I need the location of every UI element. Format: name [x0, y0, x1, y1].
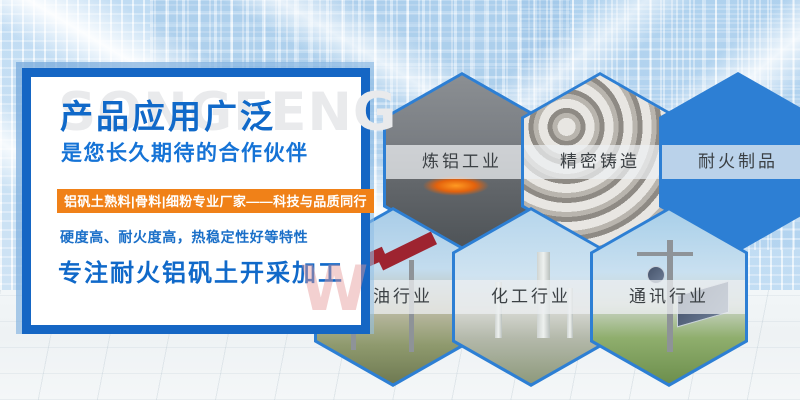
page-title: 产品应用广泛: [60, 100, 276, 133]
highlight-strip-text: 铝矾土熟料|骨料|细粉专业厂家——科技与品质同行: [64, 195, 367, 208]
page-subtitle: 是您长久期待的合作伙伴: [61, 143, 309, 164]
hex-tile-1-label: 炼铝工业: [422, 153, 502, 170]
highlight-strip: 铝矾土熟料|骨料|细粉专业厂家——科技与品质同行: [57, 189, 374, 213]
hex-tile-2-label-bar: 精密铸造: [524, 145, 676, 179]
feature-line: 硬度高、耐火度高，热稳定性好等特性: [60, 230, 308, 244]
hex-tile-6-label: 通讯行业: [629, 288, 709, 305]
hex-tile-1-label-bar: 炼铝工业: [386, 145, 538, 179]
hex-tile-6-label-bar: 通讯行业: [593, 280, 745, 314]
hex-tile-5-label-bar: 化工行业: [455, 280, 607, 314]
hex-tile-3-label-bar: 耐火制品: [662, 145, 800, 179]
banner-stage: 炼铝工业 精密铸造 耐火制品 石: [0, 0, 800, 400]
logo-watermark: W: [300, 258, 368, 320]
hex-tile-3-label: 耐火制品: [698, 153, 778, 170]
hex-tile-5-label: 化工行业: [491, 288, 571, 305]
hex-tile-2-label: 精密铸造: [560, 153, 640, 170]
